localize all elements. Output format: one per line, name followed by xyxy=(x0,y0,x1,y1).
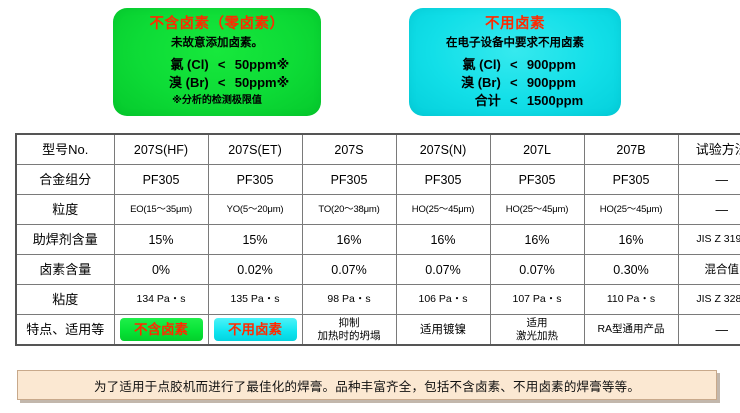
callout-limit-rows: 氯 (Cl) < 900ppm 溴 (Br) < 900ppm 合计 < 150… xyxy=(447,56,583,110)
table-cell: — xyxy=(678,165,740,195)
row-label: 助焊剂含量 xyxy=(16,225,114,255)
table-cell: YO(5～20μm) xyxy=(208,195,302,225)
callout-subtitle: 未故意添加卤素。 xyxy=(113,34,321,53)
row-label: 粒度 xyxy=(16,195,114,225)
table-cell: 16% xyxy=(584,225,678,255)
limit-row: 溴 (Br) < 50ppm※ xyxy=(145,74,290,92)
table-cell: 16% xyxy=(302,225,396,255)
callout-subtitle: 在电子设备中要求不用卤素 xyxy=(409,34,621,53)
table-row: 粘度 134 Pa・s 135 Pa・s 98 Pa・s 106 Pa・s 10… xyxy=(16,285,740,315)
callout-limit-rows: 氯 (Cl) < 50ppm※ 溴 (Br) < 50ppm※ xyxy=(145,56,290,92)
limit-row: 氯 (Cl) < 50ppm※ xyxy=(145,56,290,74)
column-header: 207L xyxy=(490,134,584,165)
row-label: 粘度 xyxy=(16,285,114,315)
table-cell: 16% xyxy=(396,225,490,255)
limit-value: 1500ppm xyxy=(527,92,583,110)
limit-row: 合计 < 1500ppm xyxy=(447,92,583,110)
table-cell: TO(20～38μm) xyxy=(302,195,396,225)
table-cell: PF305 xyxy=(302,165,396,195)
limit-value: 900ppm xyxy=(527,56,576,74)
column-header: 型号No. xyxy=(16,134,114,165)
badge-halogen-free: 不含卤素 xyxy=(120,318,203,341)
limit-row: 溴 (Br) < 900ppm xyxy=(447,74,583,92)
limit-name: 氯 (Cl) xyxy=(145,56,209,74)
table-cell: PF305 xyxy=(208,165,302,195)
table-cell: PF305 xyxy=(490,165,584,195)
table-cell: 0.07% xyxy=(490,255,584,285)
limit-value: 900ppm xyxy=(527,74,576,92)
table-cell: 0.07% xyxy=(396,255,490,285)
table-cell-badge-halogen-not-used: 不用卤素 xyxy=(208,315,302,346)
column-header: 207B xyxy=(584,134,678,165)
limit-operator: < xyxy=(209,74,235,92)
table-cell: HO(25～45μm) xyxy=(584,195,678,225)
table-cell: — xyxy=(678,315,740,346)
limit-operator: < xyxy=(501,56,527,74)
table-cell: EO(15～35μm) xyxy=(114,195,208,225)
limit-name: 氯 (Cl) xyxy=(447,56,501,74)
table-row: 合金组分 PF305 PF305 PF305 PF305 PF305 PF305… xyxy=(16,165,740,195)
table-cell: JIS Z 3197 xyxy=(678,225,740,255)
table-cell: RA型通用产品 xyxy=(584,315,678,346)
table-cell: 135 Pa・s xyxy=(208,285,302,315)
table-cell: PF305 xyxy=(396,165,490,195)
table-row: 卤素含量 0% 0.02% 0.07% 0.07% 0.07% 0.30% 混合… xyxy=(16,255,740,285)
row-label: 合金组分 xyxy=(16,165,114,195)
column-header: 试验方法 xyxy=(678,134,740,165)
table-cell: 98 Pa・s xyxy=(302,285,396,315)
table-cell: 16% xyxy=(490,225,584,255)
limit-operator: < xyxy=(501,92,527,110)
column-header: 207S(HF) xyxy=(114,134,208,165)
table-cell: — xyxy=(678,195,740,225)
table-cell: 0.30% xyxy=(584,255,678,285)
table-cell: JIS Z 3284 xyxy=(678,285,740,315)
table-cell: 适用镀镍 xyxy=(396,315,490,346)
table-cell: 0.07% xyxy=(302,255,396,285)
limit-value: 50ppm※ xyxy=(235,56,290,74)
table-header-row: 型号No. 207S(HF) 207S(ET) 207S 207S(N) 207… xyxy=(16,134,740,165)
limit-name: 溴 (Br) xyxy=(447,74,501,92)
table-cell: 0% xyxy=(114,255,208,285)
table-row: 助焊剂含量 15% 15% 16% 16% 16% 16% JIS Z 3197 xyxy=(16,225,740,255)
table-row-features: 特点、适用等 不含卤素 不用卤素 抑制加热时的坍塌 适用镀镍 适用激光加热 RA… xyxy=(16,315,740,346)
limit-operator: < xyxy=(501,74,527,92)
spec-table: 型号No. 207S(HF) 207S(ET) 207S 207S(N) 207… xyxy=(15,133,740,346)
table-cell: 适用激光加热 xyxy=(490,315,584,346)
table-cell: HO(25～45μm) xyxy=(396,195,490,225)
limit-operator: < xyxy=(209,56,235,74)
bottom-caption-text: 为了适用于点胶机而进行了最佳化的焊膏。品种丰富齐全，包括不含卤素、不用卤素的焊膏… xyxy=(94,376,640,395)
limit-name: 合计 xyxy=(447,92,501,110)
table-cell: 15% xyxy=(208,225,302,255)
table-cell: 抑制加热时的坍塌 xyxy=(302,315,396,346)
limit-name: 溴 (Br) xyxy=(145,74,209,92)
table-cell: 134 Pa・s xyxy=(114,285,208,315)
table-cell: PF305 xyxy=(114,165,208,195)
spec-table-wrapper: 型号No. 207S(HF) 207S(ET) 207S 207S(N) 207… xyxy=(15,133,725,346)
callout-title: 不含卤素（零卤素） xyxy=(113,14,321,34)
limit-value: 50ppm※ xyxy=(235,74,290,92)
badge-halogen-not-used: 不用卤素 xyxy=(214,318,297,341)
table-row: 粒度 EO(15～35μm) YO(5～20μm) TO(20～38μm) HO… xyxy=(16,195,740,225)
callout-note: ※分析的检测极限值 xyxy=(113,93,321,109)
row-label: 特点、适用等 xyxy=(16,315,114,346)
row-label: 卤素含量 xyxy=(16,255,114,285)
column-header: 207S(N) xyxy=(396,134,490,165)
bottom-caption: 为了适用于点胶机而进行了最佳化的焊膏。品种丰富齐全，包括不含卤素、不用卤素的焊膏… xyxy=(17,370,717,400)
table-cell: 15% xyxy=(114,225,208,255)
table-cell: 107 Pa・s xyxy=(490,285,584,315)
column-header: 207S(ET) xyxy=(208,134,302,165)
table-cell: PF305 xyxy=(584,165,678,195)
table-cell: 混合值 xyxy=(678,255,740,285)
table-cell: 106 Pa・s xyxy=(396,285,490,315)
callout-halogen-not-used: 不用卤素 在电子设备中要求不用卤素 氯 (Cl) < 900ppm 溴 (Br)… xyxy=(409,8,621,116)
table-cell-badge-halogen-free: 不含卤素 xyxy=(114,315,208,346)
table-cell: HO(25～45μm) xyxy=(490,195,584,225)
callout-halogen-free: 不含卤素（零卤素） 未故意添加卤素。 氯 (Cl) < 50ppm※ 溴 (Br… xyxy=(113,8,321,116)
table-cell: 0.02% xyxy=(208,255,302,285)
table-cell: 110 Pa・s xyxy=(584,285,678,315)
limit-row: 氯 (Cl) < 900ppm xyxy=(447,56,583,74)
callout-title: 不用卤素 xyxy=(409,14,621,34)
callout-group: 不含卤素（零卤素） 未故意添加卤素。 氯 (Cl) < 50ppm※ 溴 (Br… xyxy=(0,0,740,122)
column-header: 207S xyxy=(302,134,396,165)
